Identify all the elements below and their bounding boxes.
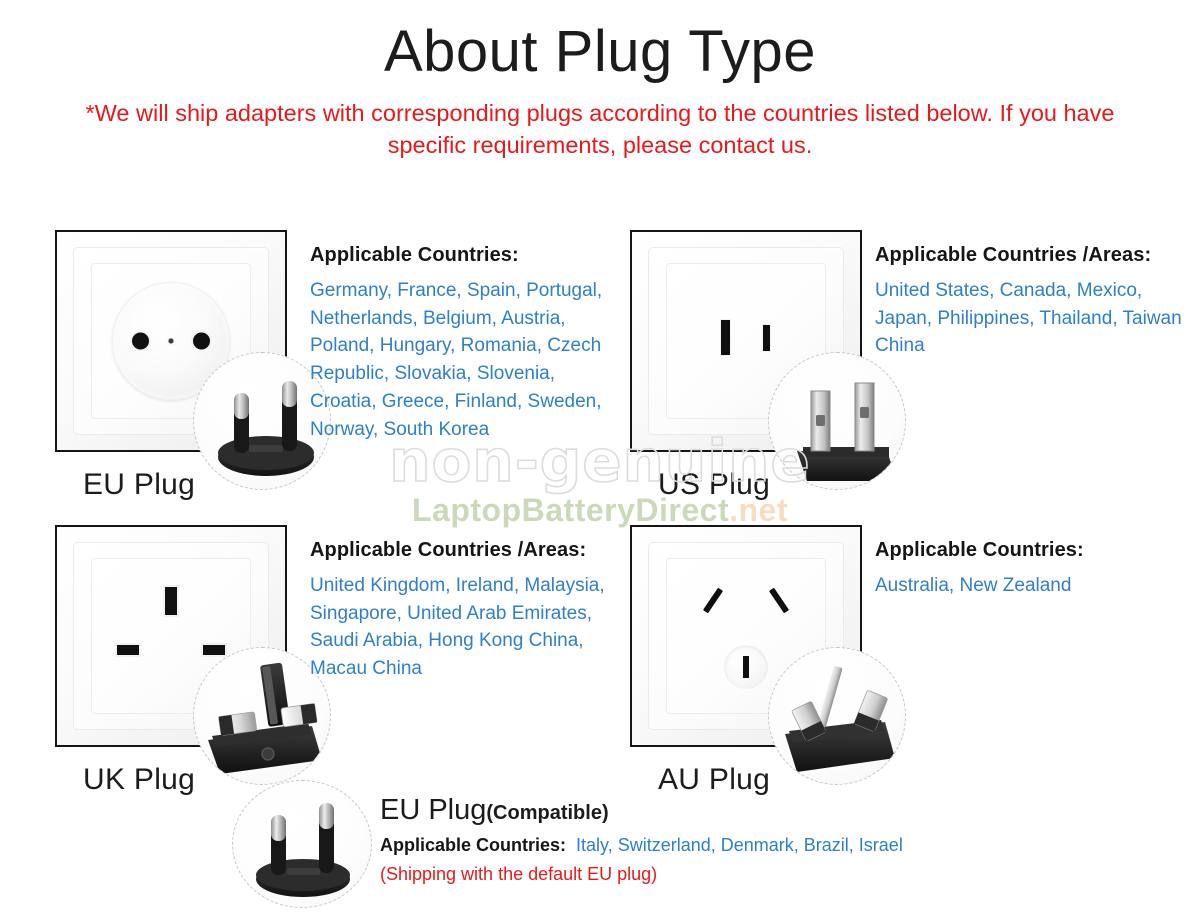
countries-heading-uk: Applicable Countries /Areas: — [310, 539, 610, 562]
socket-wrap-us — [630, 230, 880, 452]
plug-block-eu: EU Plug Applicable Countries: Germany, F… — [55, 230, 305, 502]
socket-wrap-eu — [55, 230, 305, 452]
countries-heading-eu: Applicable Countries: — [310, 244, 610, 267]
au-socket-slot-right — [769, 588, 789, 614]
compatible-title-main: EU Plug — [380, 794, 486, 826]
us-socket-slot-left — [720, 319, 731, 356]
compatible-section: EU Plug(Compatible) Applicable Countries… — [232, 780, 992, 915]
compatible-title-suffix: (Compatible) — [486, 802, 608, 824]
shipping-notice: *We will ship adapters with correspondin… — [60, 97, 1140, 162]
countries-uk: Applicable Countries /Areas: United King… — [310, 539, 610, 683]
compatible-plug-wrap — [232, 780, 380, 910]
compatible-heading: Applicable Countries: — [380, 835, 566, 855]
compatible-countries: Italy, Switzerland, Denmark, Brazil, Isr… — [576, 835, 903, 855]
compatible-note: (Shipping with the default EU plug) — [380, 862, 990, 887]
countries-list-uk: United Kingdom, Ireland, Malaysia, Singa… — [310, 572, 610, 683]
us-socket-slot-right — [762, 324, 771, 352]
countries-au: Applicable Countries: Australia, New Zea… — [875, 539, 1195, 600]
compatible-countries-row: Applicable Countries: Italy, Switzerland… — [380, 833, 990, 858]
countries-list-au: Australia, New Zealand — [875, 572, 1195, 600]
socket-wrap-uk — [55, 525, 305, 747]
au-socket-slot-left — [703, 588, 723, 614]
countries-heading-au: Applicable Countries: — [875, 539, 1195, 562]
us-plug-icon — [768, 352, 906, 490]
uk-socket-slot-left — [115, 643, 141, 657]
countries-list-eu: Germany, France, Spain, Portugal, Nether… — [310, 277, 610, 443]
countries-us: Applicable Countries /Areas: United Stat… — [875, 244, 1195, 360]
plug-block-us: US Plug Applicable Countries /Areas: Uni… — [630, 230, 880, 502]
au-socket-earth-recess — [724, 645, 768, 689]
page-title: About Plug Type — [0, 22, 1200, 83]
countries-list-us: United States, Canada, Mexico, Japan, Ph… — [875, 277, 1195, 360]
socket-wrap-au — [630, 525, 880, 747]
uk-socket-earth-slot — [163, 585, 179, 617]
compatible-title: EU Plug(Compatible) — [380, 796, 990, 825]
plug-block-au: AU Plug Applicable Countries: Australia,… — [630, 525, 880, 797]
countries-eu: Applicable Countries: Germany, France, S… — [310, 244, 610, 443]
au-plug-icon — [768, 647, 906, 785]
plug-block-uk: UK Plug Applicable Countries /Areas: Uni… — [55, 525, 305, 797]
countries-heading-us: Applicable Countries /Areas: — [875, 244, 1195, 267]
uk-socket-slot-right — [201, 643, 227, 657]
compatible-text: EU Plug(Compatible) Applicable Countries… — [380, 796, 990, 887]
eu-plug-icon — [232, 780, 372, 908]
